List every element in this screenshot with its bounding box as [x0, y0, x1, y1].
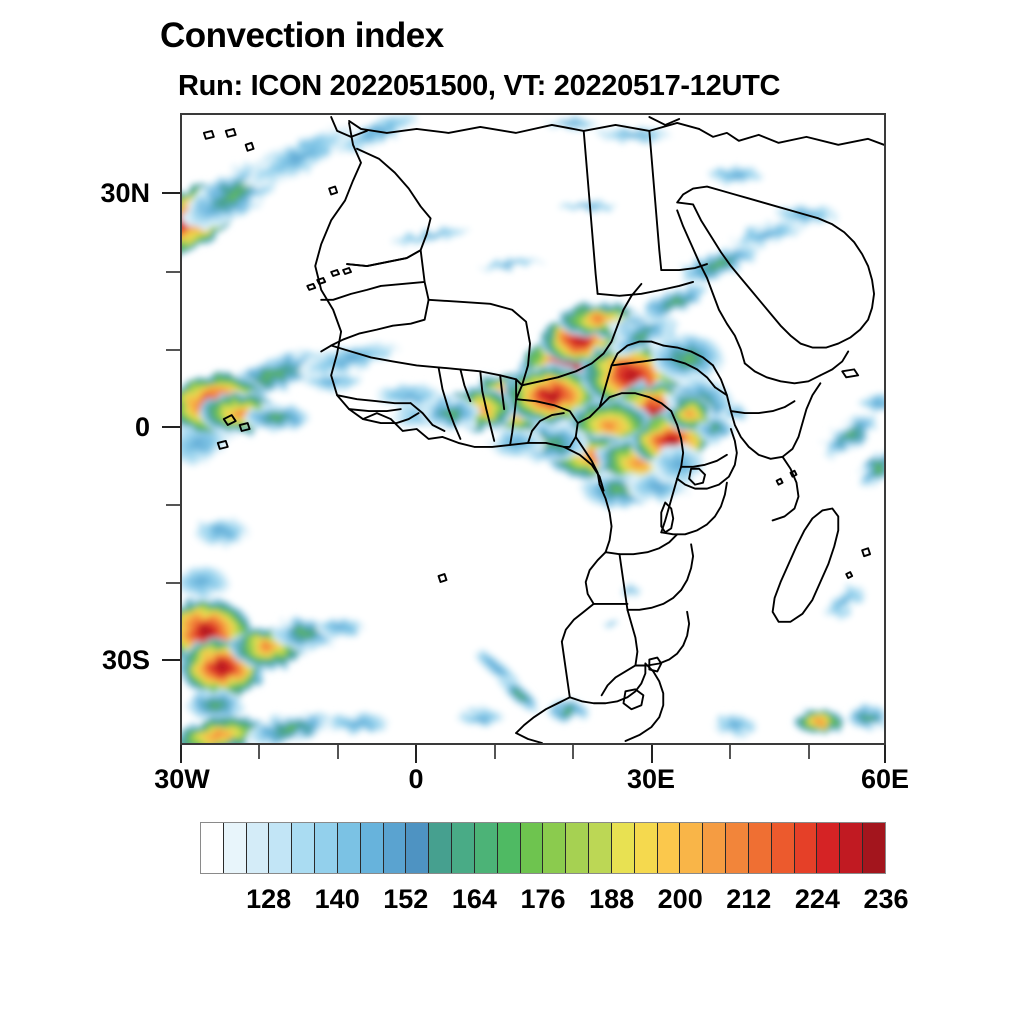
colorbar-cell-25 — [772, 823, 795, 873]
page-title: Convection index — [160, 16, 444, 56]
colorbar-cell-26 — [795, 823, 818, 873]
colorbar-cell-8 — [384, 823, 407, 873]
x-tick-minor-40e — [729, 745, 731, 759]
colorbar-cell-21 — [680, 823, 703, 873]
colorbar-cell-10 — [429, 823, 452, 873]
colorbar-cell-27 — [817, 823, 840, 873]
y-tick-30n — [162, 192, 180, 194]
colorbar-cell-28 — [840, 823, 863, 873]
x-tick-60e — [884, 745, 886, 763]
y-axis-label-0: 0 — [0, 412, 150, 443]
colorbar-cell-29 — [863, 823, 885, 873]
colorbar-cell-12 — [475, 823, 498, 873]
y-axis-label-30n: 30N — [0, 178, 150, 209]
y-tick-0 — [162, 426, 180, 428]
colorbar-cell-16 — [566, 823, 589, 873]
x-tick-minor-20e — [572, 745, 574, 759]
colorbar-cell-0 — [201, 823, 224, 873]
x-tick-minor-50e — [808, 745, 810, 759]
convection-index-figure: Convection index Run: ICON 2022051500, V… — [0, 0, 1024, 1024]
colorbar-cell-1 — [224, 823, 247, 873]
colorbar-label-236: 236 — [826, 884, 946, 915]
y-tick-30s — [162, 659, 180, 661]
colorbar-cell-20 — [658, 823, 681, 873]
y-tick-minor-20s — [166, 582, 180, 584]
x-axis-label-30e: 30E — [571, 764, 731, 795]
y-tick-minor-10s — [166, 504, 180, 506]
colorbar-cell-5 — [315, 823, 338, 873]
colorbar-cell-17 — [589, 823, 612, 873]
y-tick-minor-10n — [166, 349, 180, 351]
x-tick-minor-10e — [494, 745, 496, 759]
colorbar-cell-3 — [269, 823, 292, 873]
x-tick-30e — [651, 745, 653, 763]
colorbar-cell-23 — [726, 823, 749, 873]
colorbar-cell-11 — [452, 823, 475, 873]
x-tick-30w — [180, 745, 182, 763]
y-tick-minor-20n — [166, 271, 180, 273]
colorbar-cell-15 — [543, 823, 566, 873]
colorbar-cell-14 — [521, 823, 544, 873]
map-plot-area — [180, 113, 886, 745]
x-axis-label-0: 0 — [336, 764, 496, 795]
colorbar-cell-22 — [703, 823, 726, 873]
colorbar-cell-24 — [749, 823, 772, 873]
colorbar-cell-9 — [406, 823, 429, 873]
colorbar-cell-19 — [635, 823, 658, 873]
colorbar-cell-4 — [292, 823, 315, 873]
x-tick-minor-10w — [337, 745, 339, 759]
colorbar-cell-6 — [338, 823, 361, 873]
x-axis-label-30w: 30W — [102, 764, 262, 795]
y-axis-label-30s: 30S — [0, 645, 150, 676]
colorbar-cell-18 — [612, 823, 635, 873]
colorbar-cell-13 — [498, 823, 521, 873]
x-tick-0 — [415, 745, 417, 763]
map-canvas — [182, 115, 884, 743]
colorbar-cell-7 — [361, 823, 384, 873]
run-valid-time-subtitle: Run: ICON 2022051500, VT: 20220517-12UTC — [178, 70, 780, 103]
colorbar-cell-2 — [247, 823, 270, 873]
colorbar — [200, 822, 886, 874]
x-axis-label-60e: 60E — [805, 764, 965, 795]
x-tick-minor-20w — [258, 745, 260, 759]
